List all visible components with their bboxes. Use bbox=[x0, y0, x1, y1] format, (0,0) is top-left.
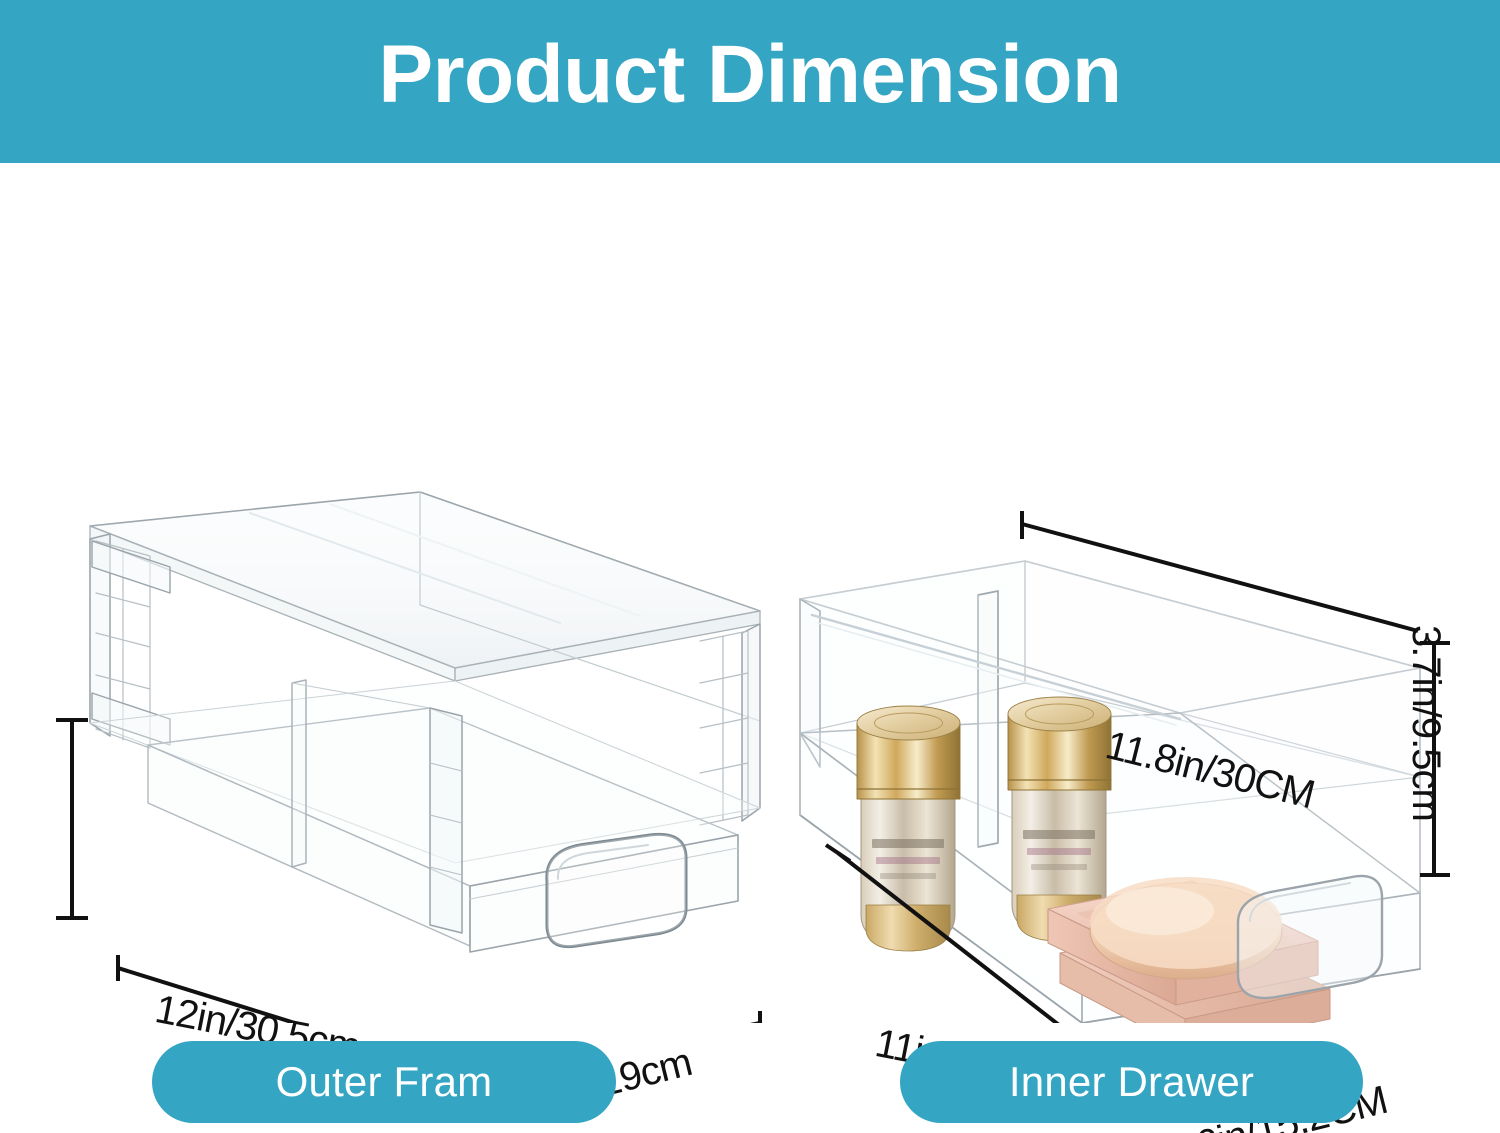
product-illustration-stage: 4.4in/11.2cm 12in/30.5cm 7.5in/19cm 11.8… bbox=[0, 163, 1500, 1023]
caption-pill-outer-frame-label: Outer Fram bbox=[276, 1058, 493, 1106]
caption-pill-inner-drawer-label: Inner Drawer bbox=[1009, 1058, 1254, 1106]
drawer-handle bbox=[1238, 876, 1382, 998]
inner-drawer-illustration bbox=[800, 561, 1420, 1023]
header-band: Product Dimension bbox=[0, 0, 1500, 163]
page-title: Product Dimension bbox=[0, 34, 1500, 116]
product-illustrations bbox=[0, 163, 1500, 1023]
outer-frame-illustration bbox=[90, 492, 760, 952]
dimension-label-right-height: 3.7in/9.5cm bbox=[1403, 625, 1448, 821]
product-dimension-infographic: Product Dimension bbox=[0, 0, 1500, 1133]
cosmetic-jar-left bbox=[857, 706, 960, 951]
caption-pill-inner-drawer: Inner Drawer bbox=[900, 1041, 1363, 1123]
caption-pill-outer-frame: Outer Fram bbox=[152, 1041, 616, 1123]
